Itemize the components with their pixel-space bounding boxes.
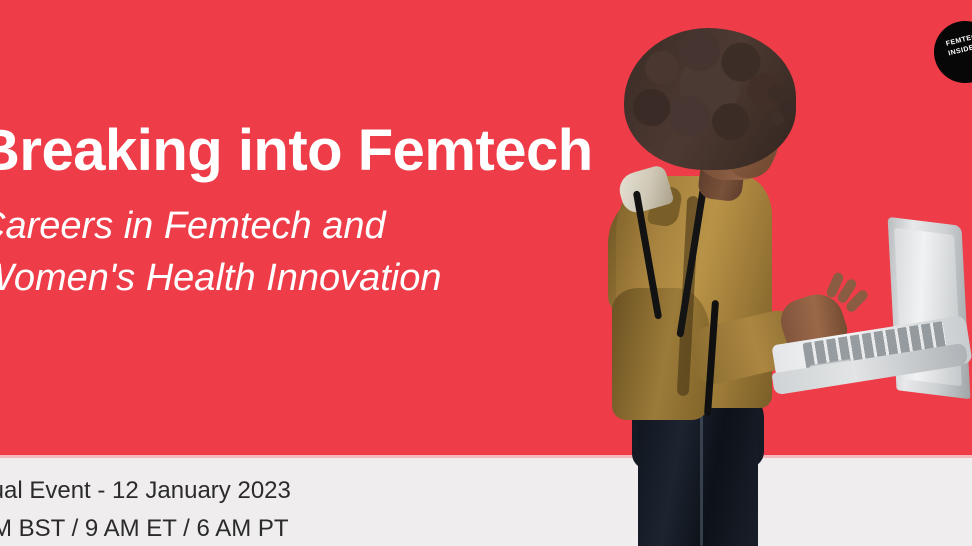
page-title: Breaking into Femtech [0,120,618,183]
event-promo-banner: Breaking into Femtech Careers in Femtech… [0,0,972,546]
badge-text-block: FEMTECH INSIDER [945,31,972,60]
subtitle-line-2: Women's Health Innovation [0,252,618,304]
headline-block: Breaking into Femtech Careers in Femtech… [0,120,618,305]
event-details-block: rtual Event - 12 January 2023 PM BST / 9… [0,472,291,546]
hair-wisp-shape [766,78,800,130]
trouser-seam [700,404,703,546]
woman-with-laptop-photo [596,0,972,546]
subtitle-line-1: Careers in Femtech and [0,200,618,252]
event-date-line: rtual Event - 12 January 2023 [0,472,291,510]
event-time-line: PM BST / 9 AM ET / 6 AM PT [0,510,291,546]
